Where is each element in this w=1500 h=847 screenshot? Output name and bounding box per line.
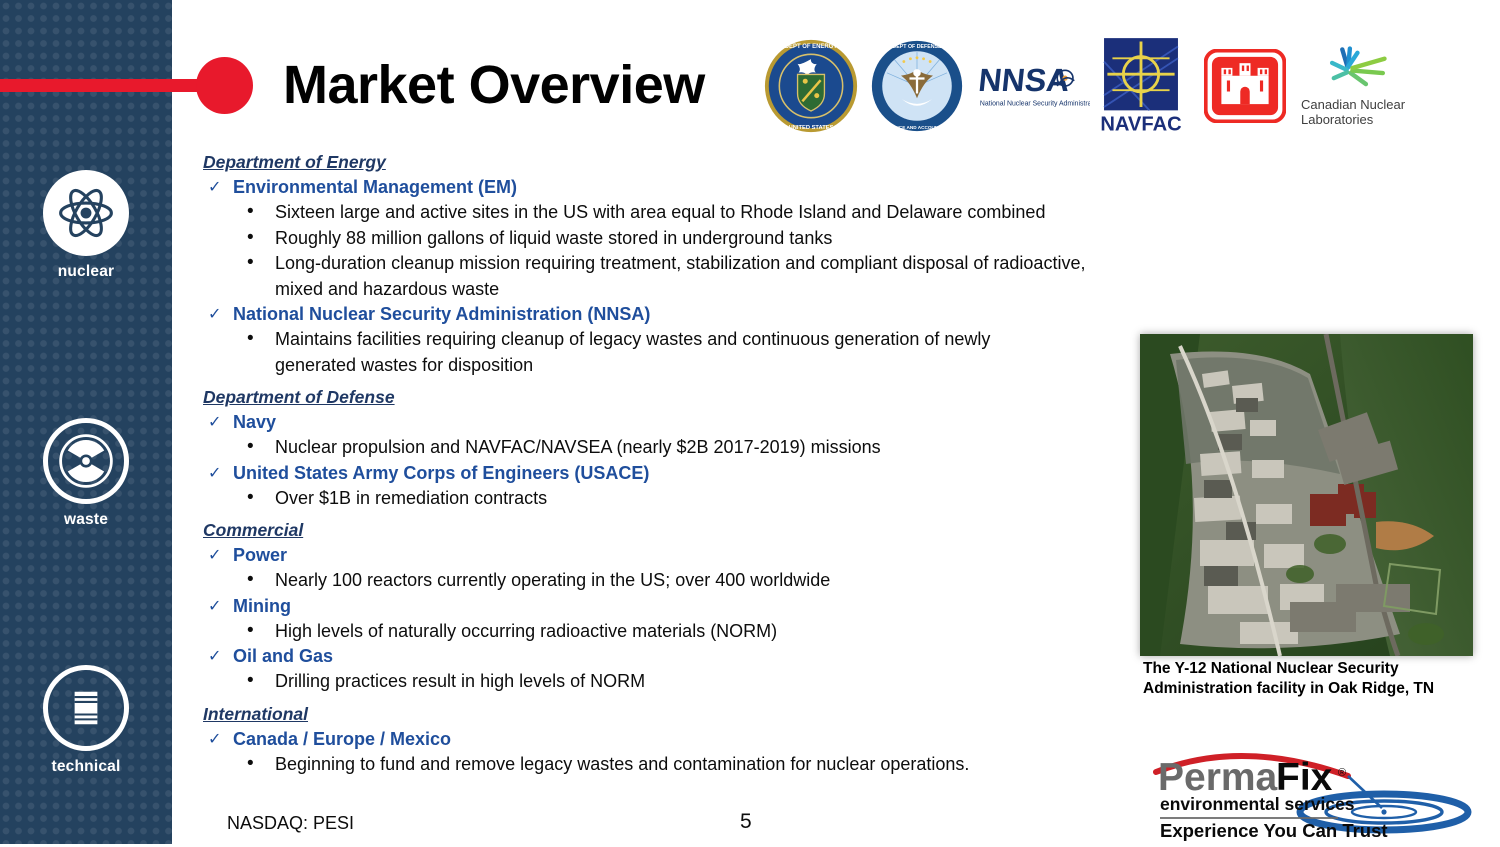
- cnl-name-line1: Canadian Nuclear: [1301, 97, 1419, 113]
- section-heading: International: [203, 702, 1123, 727]
- bullet-dot-icon: •: [247, 751, 254, 777]
- subsection-label: Oil and Gas: [233, 646, 333, 666]
- subsection-item: ✓ United States Army Corps of Engineers …: [203, 461, 1123, 486]
- sidebar-item-label: nuclear: [0, 263, 172, 281]
- svg-text:DEPT OF ENERGY: DEPT OF ENERGY: [785, 44, 837, 50]
- bullet-dot-icon: •: [247, 668, 254, 694]
- sidebar-item-technical[interactable]: technical: [0, 665, 172, 776]
- checkmark-icon: ✓: [208, 594, 221, 619]
- bullet-text: Nuclear propulsion and NAVFAC/NAVSEA (ne…: [275, 437, 881, 457]
- svg-text:DEPT OF DEFENSE: DEPT OF DEFENSE: [892, 44, 942, 50]
- permafix-tagline-2: Experience You Can Trust: [1160, 820, 1388, 841]
- bullet-text: Maintains facilities requiring cleanup o…: [275, 329, 990, 375]
- subsection-label: United States Army Corps of Engineers (U…: [233, 463, 649, 483]
- bullet-item: • High levels of naturally occurring rad…: [203, 619, 1123, 645]
- page-title: Market Overview: [283, 54, 705, 116]
- bullet-dot-icon: •: [247, 485, 254, 511]
- bullet-text: Roughly 88 million gallons of liquid was…: [275, 228, 832, 248]
- bullet-text: Beginning to fund and remove legacy wast…: [275, 754, 969, 774]
- slide-body: Department of Energy ✓ Environmental Man…: [203, 150, 1123, 777]
- nasdaq-ticker: NASDAQ: PESI: [227, 813, 354, 834]
- sidebar-item-label: technical: [0, 758, 172, 776]
- bullet-item: • Over $1B in remediation contracts: [203, 486, 1123, 512]
- dod-seal-logo: DEPT OF DEFENSE FINANCE AND ACCOUNTING: [865, 39, 969, 133]
- checkmark-icon: ✓: [208, 543, 221, 568]
- radiation-icon: [43, 418, 129, 504]
- bullet-item: • Sixteen large and active sites in the …: [203, 200, 1123, 226]
- nnsa-tagline: National Nuclear Security Administration: [980, 100, 1090, 107]
- subsection-label: Canada / Europe / Mexico: [233, 729, 451, 749]
- subsection-label: Navy: [233, 412, 276, 432]
- checkmark-icon: ✓: [208, 410, 221, 435]
- subsection-item: ✓ National Nuclear Security Administrati…: [203, 302, 1123, 327]
- waste-drum-icon: [43, 665, 129, 751]
- bullet-item: • Nearly 100 reactors currently operatin…: [203, 568, 1123, 594]
- bullet-dot-icon: •: [247, 326, 254, 352]
- section-heading: Department of Energy: [203, 150, 1123, 175]
- navfac-logo: NAVFAC: [1093, 36, 1189, 136]
- bullet-text: Sixteen large and active sites in the US…: [275, 202, 1045, 222]
- bullet-item: • Maintains facilities requiring cleanup…: [203, 327, 1075, 378]
- svg-text:UNITED STATES: UNITED STATES: [789, 125, 834, 131]
- bullet-dot-icon: •: [247, 618, 254, 644]
- checkmark-icon: ✓: [208, 302, 221, 327]
- bullet-dot-icon: •: [247, 250, 254, 276]
- bullet-dot-icon: •: [247, 225, 254, 251]
- atom-icon: [43, 170, 129, 256]
- bullet-item: • Nuclear propulsion and NAVFAC/NAVSEA (…: [203, 435, 1123, 461]
- subsection-label: Power: [233, 545, 287, 565]
- doe-seal-logo: DEPT OF ENERGY UNITED STATES: [757, 38, 865, 134]
- canadian-nuclear-laboratories-logo: Canadian Nuclear Laboratories: [1301, 44, 1419, 128]
- section-heading: Department of Defense: [203, 385, 1123, 410]
- sidebar-item-waste[interactable]: waste: [0, 418, 172, 529]
- subsection-label: National Nuclear Security Administration…: [233, 304, 650, 324]
- svg-text:FINANCE AND ACCOUNTING: FINANCE AND ACCOUNTING: [884, 124, 949, 129]
- bullet-dot-icon: •: [247, 567, 254, 593]
- usace-castle-logo: [1189, 49, 1301, 123]
- y12-aerial-photo: [1140, 334, 1473, 656]
- subsection-item: ✓ Navy: [203, 410, 1123, 435]
- bullet-text: Long-duration cleanup mission requiring …: [275, 253, 1085, 299]
- checkmark-icon: ✓: [208, 727, 221, 752]
- bullet-item: • Drilling practices result in high leve…: [203, 669, 1123, 695]
- permafix-logo: Perma Fix ® environmental services Exper…: [1152, 742, 1482, 842]
- subsection-label: Environmental Management (EM): [233, 177, 517, 197]
- permafix-tagline-1: environmental services: [1160, 794, 1355, 814]
- section-heading: Commercial: [203, 518, 1123, 543]
- permafix-word-a: Perma: [1158, 756, 1278, 799]
- partner-logo-strip: DEPT OF ENERGY UNITED STATES DEPT OF DEF…: [757, 33, 1419, 138]
- subsection-item: ✓ Mining: [203, 594, 1123, 619]
- title-accent-bar: [0, 79, 215, 92]
- bullet-text: Nearly 100 reactors currently operating …: [275, 570, 830, 590]
- bullet-text: Over $1B in remediation contracts: [275, 488, 547, 508]
- bullet-dot-icon: •: [247, 199, 254, 225]
- subsection-item: ✓ Power: [203, 543, 1123, 568]
- photo-caption: The Y-12 National Nuclear Security Admin…: [1143, 659, 1483, 699]
- subsection-item: ✓ Canada / Europe / Mexico: [203, 727, 1123, 752]
- subsection-label: Mining: [233, 596, 291, 616]
- cnl-name-line2: Laboratories: [1301, 112, 1419, 128]
- page-number: 5: [740, 810, 752, 834]
- bullet-item: • Beginning to fund and remove legacy wa…: [203, 752, 1123, 778]
- nnsa-logo: NNSA National Nuclear Security Administr…: [969, 54, 1093, 118]
- subsection-item: ✓ Oil and Gas: [203, 644, 1123, 669]
- checkmark-icon: ✓: [208, 644, 221, 669]
- checkmark-icon: ✓: [208, 461, 221, 486]
- title-accent-dot: [196, 57, 253, 114]
- sidebar-item-label: waste: [0, 511, 172, 529]
- sidebar-item-nuclear[interactable]: nuclear: [0, 170, 172, 281]
- permafix-word-b: Fix: [1276, 756, 1333, 799]
- navfac-wordmark: NAVFAC: [1100, 113, 1181, 135]
- subsection-item: ✓ Environmental Management (EM): [203, 175, 1123, 200]
- bullet-dot-icon: •: [247, 434, 254, 460]
- bullet-text: Drilling practices result in high levels…: [275, 671, 645, 691]
- bullet-text: High levels of naturally occurring radio…: [275, 621, 777, 641]
- permafix-registered-mark: ®: [1338, 767, 1346, 779]
- bullet-item: • Long-duration cleanup mission requirin…: [203, 251, 1123, 302]
- bullet-item: • Roughly 88 million gallons of liquid w…: [203, 226, 1123, 252]
- checkmark-icon: ✓: [208, 175, 221, 200]
